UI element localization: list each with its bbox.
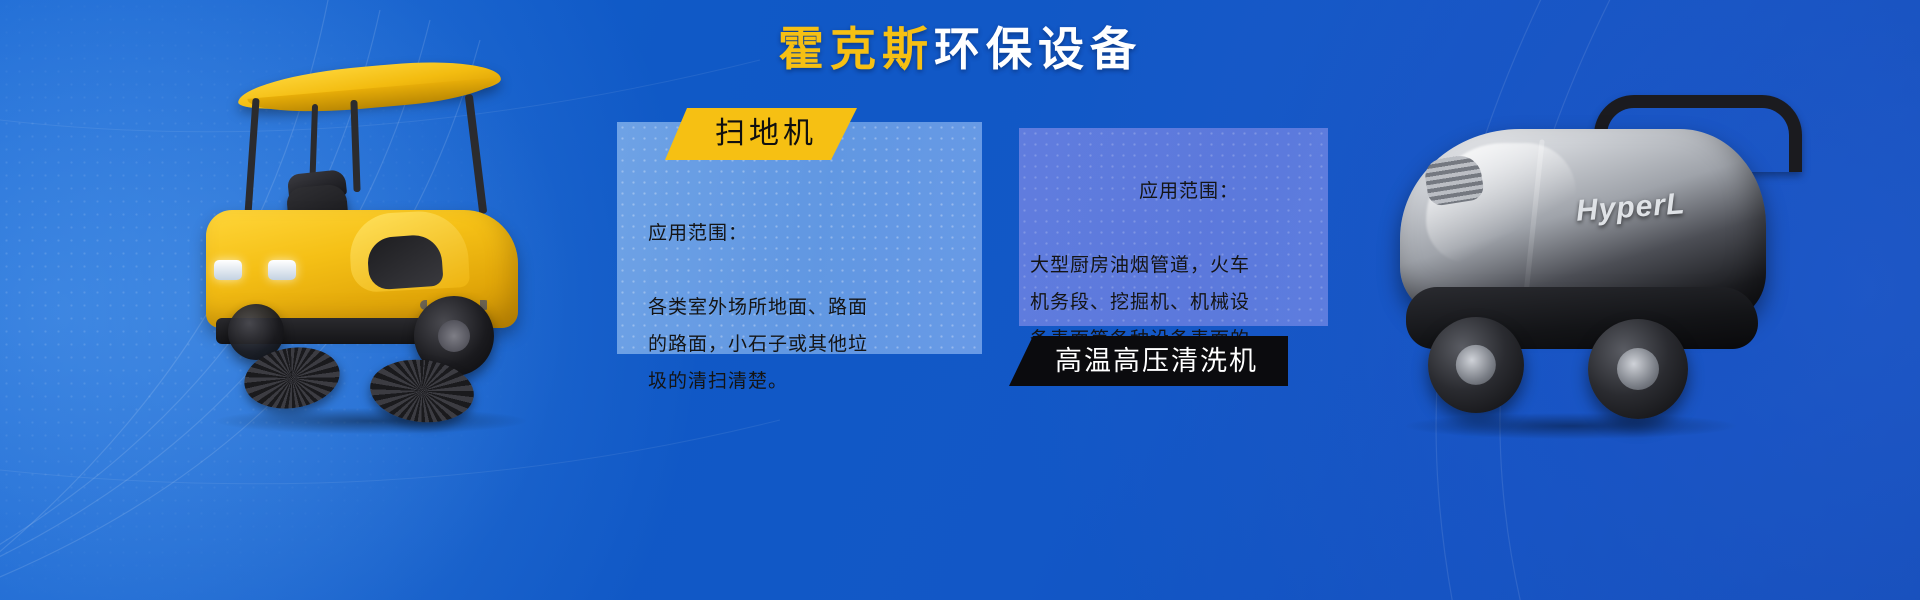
sweeper-description: 应用范围： 各类室外场所地面、路面 的路面，小石子或其他垃 圾的清扫清楚。 [648, 178, 948, 400]
sweeper-headlight [214, 260, 242, 280]
title-brand: 霍克斯 [778, 23, 934, 75]
title-suffix: 环保设备 [934, 23, 1142, 75]
sweeper-canopy-post [465, 94, 488, 214]
washer-shadow [1406, 413, 1736, 439]
sweeper-shadow [216, 408, 526, 434]
sweeper-scope-label: 应用范围： [648, 215, 948, 252]
washer-scope-label: 应用范围： [1030, 173, 1320, 210]
washer-wheel-hub [1456, 345, 1496, 385]
washer-wheel [1428, 317, 1524, 413]
washer-tag-banner[interactable]: 高温高压清洗机 [1009, 336, 1288, 386]
washer-wheel [1588, 319, 1688, 419]
promo-banner: 霍克斯环保设备 扫地机 应用范围： 各类室外场所地面、路面 的路面，小石子或其他… [0, 0, 1920, 600]
sweeper-tag-label: 扫地机 [715, 119, 817, 149]
pressure-washer-product-image: HyperL [1380, 95, 1800, 445]
sweeper-side-window [366, 233, 443, 290]
sweeper-tag-banner[interactable]: 扫地机 [665, 108, 857, 160]
sweeper-scope-text: 各类室外场所地面、路面 的路面，小石子或其他垃 圾的清扫清楚。 [648, 297, 868, 392]
sweeper-headlight [268, 260, 296, 280]
sweeper-product-image [120, 60, 540, 430]
sweeper-canopy-post [350, 100, 360, 192]
washer-tag-label: 高温高压清洗机 [1055, 348, 1258, 375]
washer-wheel-hub [1617, 348, 1659, 390]
